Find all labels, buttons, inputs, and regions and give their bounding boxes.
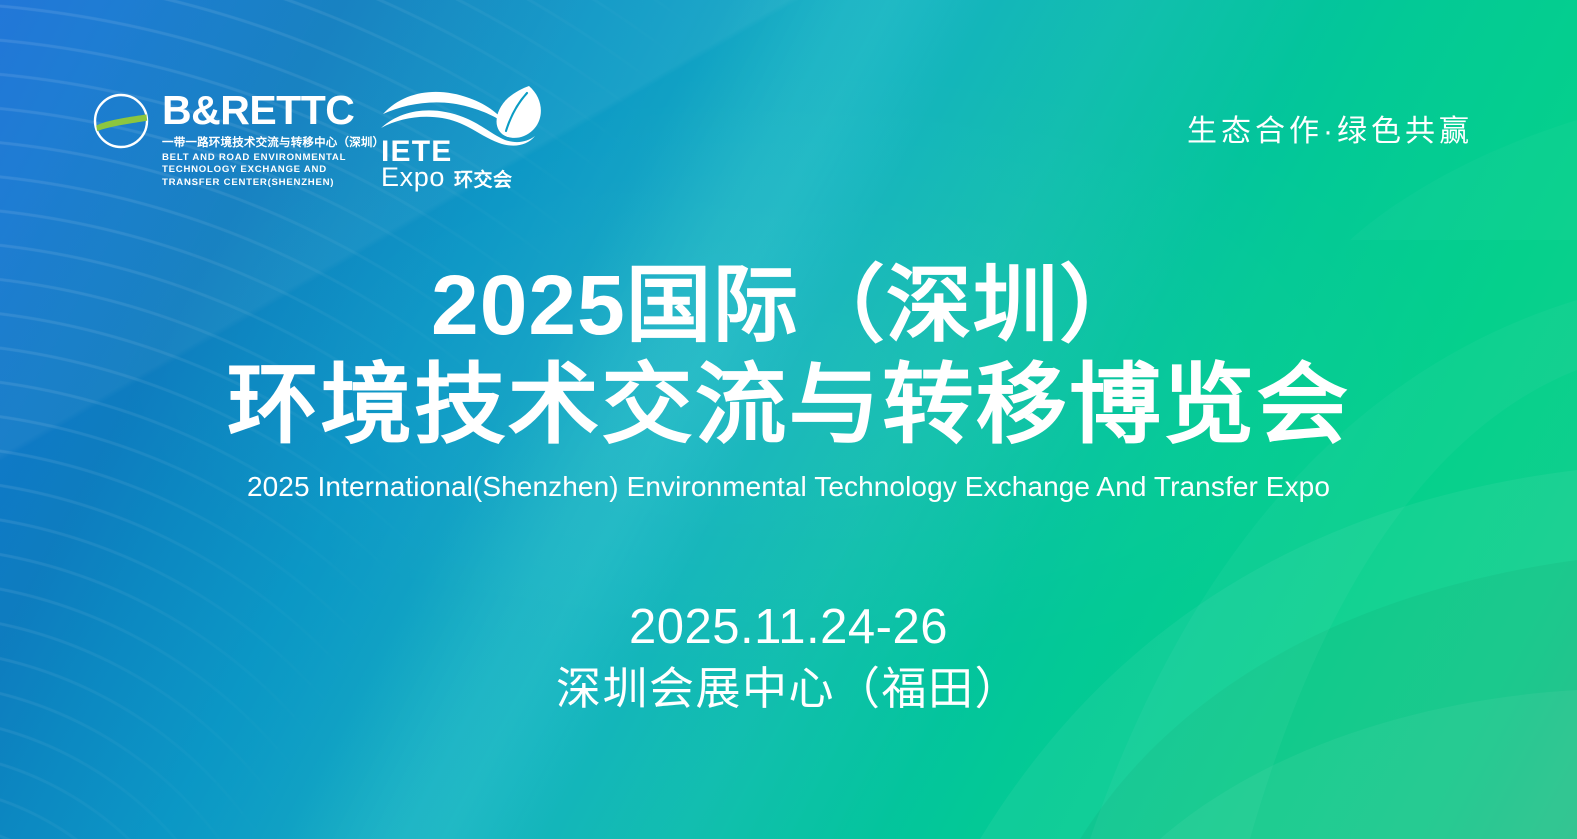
event-info-block: 2025.11.24-26 深圳会展中心（福田） [0,600,1577,715]
banner-content: B&RETTC 一带一路环境技术交流与转移中心（深圳） BELT AND ROA… [0,0,1577,839]
title-block: 2025国际（深圳） 环境技术交流与转移博览会 2025 Internation… [0,262,1577,503]
iete-chinese-short: 环交会 [454,171,513,190]
iete-expo-label: Expo [381,164,445,191]
brettc-english-name: BELT AND ROAD ENVIRONMENTAL TECHNOLOGY E… [162,152,377,189]
globe-circle-icon [92,92,150,155]
banner-slogan: 生态合作·绿色共赢 [1187,106,1473,150]
iete-subtext-row: Expo 环交会 [381,164,512,191]
brettc-text-block: B&RETTC 一带一路环境技术交流与转移中心（深圳） BELT AND ROA… [162,90,384,189]
title-line-secondary: 环境技术交流与转移博览会 [0,359,1577,451]
event-venue: 深圳会展中心（福田） [0,663,1577,715]
subtitle-english: 2025 International(Shenzhen) Environment… [0,471,1577,503]
event-date: 2025.11.24-26 [0,600,1577,655]
brettc-logo[interactable]: B&RETTC 一带一路环境技术交流与转移中心（深圳） BELT AND ROA… [92,90,384,189]
event-banner: B&RETTC 一带一路环境技术交流与转移中心（深圳） BELT AND ROA… [0,0,1577,839]
iete-expo-logo[interactable]: IETE Expo 环交会 [377,84,545,192]
banner-header: B&RETTC 一带一路环境技术交流与转移中心（深圳） BELT AND ROA… [92,84,1473,196]
title-line-primary: 2025国际（深圳） [0,262,1577,349]
brettc-wordmark: B&RETTC [162,90,384,130]
brettc-chinese-name: 一带一路环境技术交流与转移中心（深圳） [162,134,384,150]
